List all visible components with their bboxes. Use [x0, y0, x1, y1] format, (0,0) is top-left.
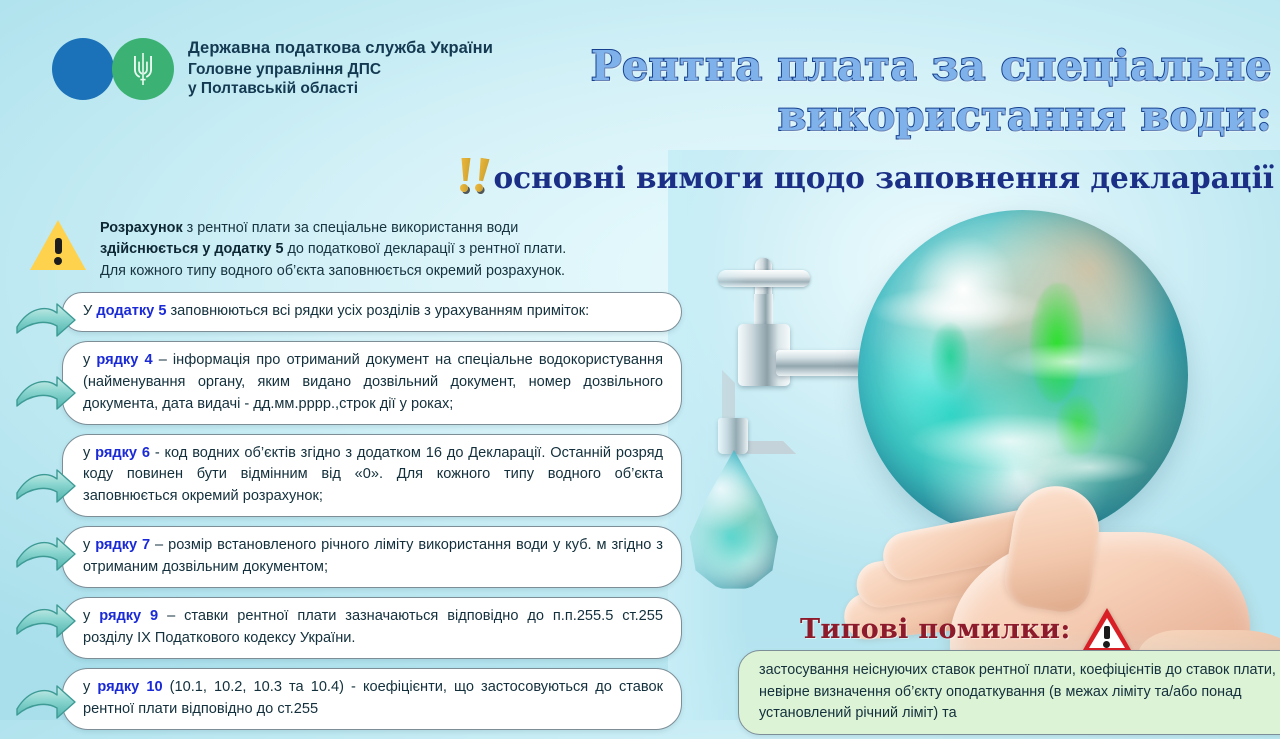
teal-arrow-icon — [15, 467, 77, 509]
errors-text: застосування неіснуючих ставок рентної п… — [759, 662, 1276, 721]
errors-title: Типові помилки: — [800, 614, 1071, 645]
agency-name-line1: Державна податкова служба України — [188, 39, 493, 58]
agency-name-line2: Головне управління ДПС — [188, 61, 493, 80]
intro-line3: Для кожного типу водного об’єкта заповню… — [100, 261, 566, 282]
logo-green-circle — [112, 38, 174, 100]
red-warning-triangle-icon — [1083, 608, 1131, 650]
errors-heading-row: Типові помилки: — [800, 608, 1131, 650]
double-exclamation-icon — [459, 158, 488, 192]
list-item[interactable]: у рядку 4 – інформація про отриманий док… — [62, 341, 682, 425]
requirements-list: У додатку 5 заповнюються всі рядки усіх … — [62, 292, 682, 739]
teal-arrow-icon — [15, 535, 77, 577]
agency-logo: Державна податкова служба України Головн… — [52, 38, 493, 100]
agency-name-line3: у Полтавській області — [188, 80, 493, 99]
intro-line1-rest: з рентної плати за спеціальне використан… — [183, 220, 519, 236]
list-item[interactable]: у рядку 9 – ставки рентної плати зазнача… — [62, 597, 682, 659]
intro-note-text: Розрахунок з рентної плати за спеціальне… — [100, 216, 566, 282]
intro-line2-rest: до податкової декларації з рентної плати… — [284, 241, 567, 257]
errors-box: застосування неіснуючих ставок рентної п… — [738, 650, 1280, 735]
intro-note: Розрахунок з рентної плати за спеціальне… — [30, 216, 680, 282]
list-item-highlight: рядку 10 — [97, 679, 162, 695]
poster-canvas: Державна податкова служба України Головн… — [0, 0, 1280, 720]
list-item[interactable]: у рядку 7 – розмір встановленого річного… — [62, 526, 682, 588]
warning-triangle-icon — [30, 220, 86, 270]
list-item-highlight: рядку 6 — [95, 445, 150, 461]
list-item-lead: у — [83, 537, 95, 553]
list-item[interactable]: у рядку 6 - код водних об’єктів згідно з… — [62, 434, 682, 518]
page-subtitle: основні вимоги щодо заповнення деклараці… — [494, 160, 1275, 195]
list-item-body: (10.1, 10.2, 10.3 та 10.4) - коефіцієнти… — [83, 679, 663, 717]
intro-line1-bold: Розрахунок — [100, 220, 183, 236]
list-item-highlight: рядку 7 — [95, 537, 150, 553]
list-item-lead: у — [83, 679, 97, 695]
agency-name: Державна податкова служба України Головн… — [188, 39, 493, 99]
list-item-body: – інформація про отриманий документ на с… — [83, 352, 663, 412]
list-item-highlight: рядку 9 — [99, 608, 158, 624]
page-title-line2: використання води: — [560, 94, 1272, 138]
list-item-highlight: рядку 4 — [96, 352, 152, 368]
teal-arrow-icon — [15, 301, 77, 343]
page-title-line1: Рентна плата за спеціальне — [560, 44, 1272, 88]
list-item-highlight: додатку 5 — [96, 303, 166, 319]
logo-blue-circle — [52, 38, 114, 100]
list-item-lead: У — [83, 303, 96, 319]
ukraine-trident-icon — [132, 52, 154, 86]
page-subtitle-row: основні вимоги щодо заповнення деклараці… — [372, 158, 1274, 196]
intro-line2-bold: здійснюється у додатку 5 — [100, 241, 284, 257]
list-item-lead: у — [83, 445, 95, 461]
teal-arrow-icon — [15, 374, 77, 416]
teal-arrow-icon — [15, 683, 77, 725]
page-title: Рентна плата за спеціальне використання … — [560, 44, 1272, 139]
water-faucet-icon — [704, 266, 874, 466]
list-item-lead: у — [83, 608, 99, 624]
teal-arrow-icon — [15, 602, 77, 644]
logo-marks — [52, 38, 174, 100]
list-item-lead: у — [83, 352, 96, 368]
list-item-body: – розмір встановленого річного ліміту ви… — [83, 537, 663, 575]
list-item-body: - код водних об’єктів згідно з додатком … — [83, 445, 663, 505]
list-item-body: заповнюються всі рядки усіх розділів з у… — [166, 303, 589, 319]
list-item-body: – ставки рентної плати зазначаються відп… — [83, 608, 663, 646]
list-item[interactable]: У додатку 5 заповнюються всі рядки усіх … — [62, 292, 682, 332]
list-item[interactable]: у рядку 10 (10.1, 10.2, 10.3 та 10.4) - … — [62, 668, 682, 730]
